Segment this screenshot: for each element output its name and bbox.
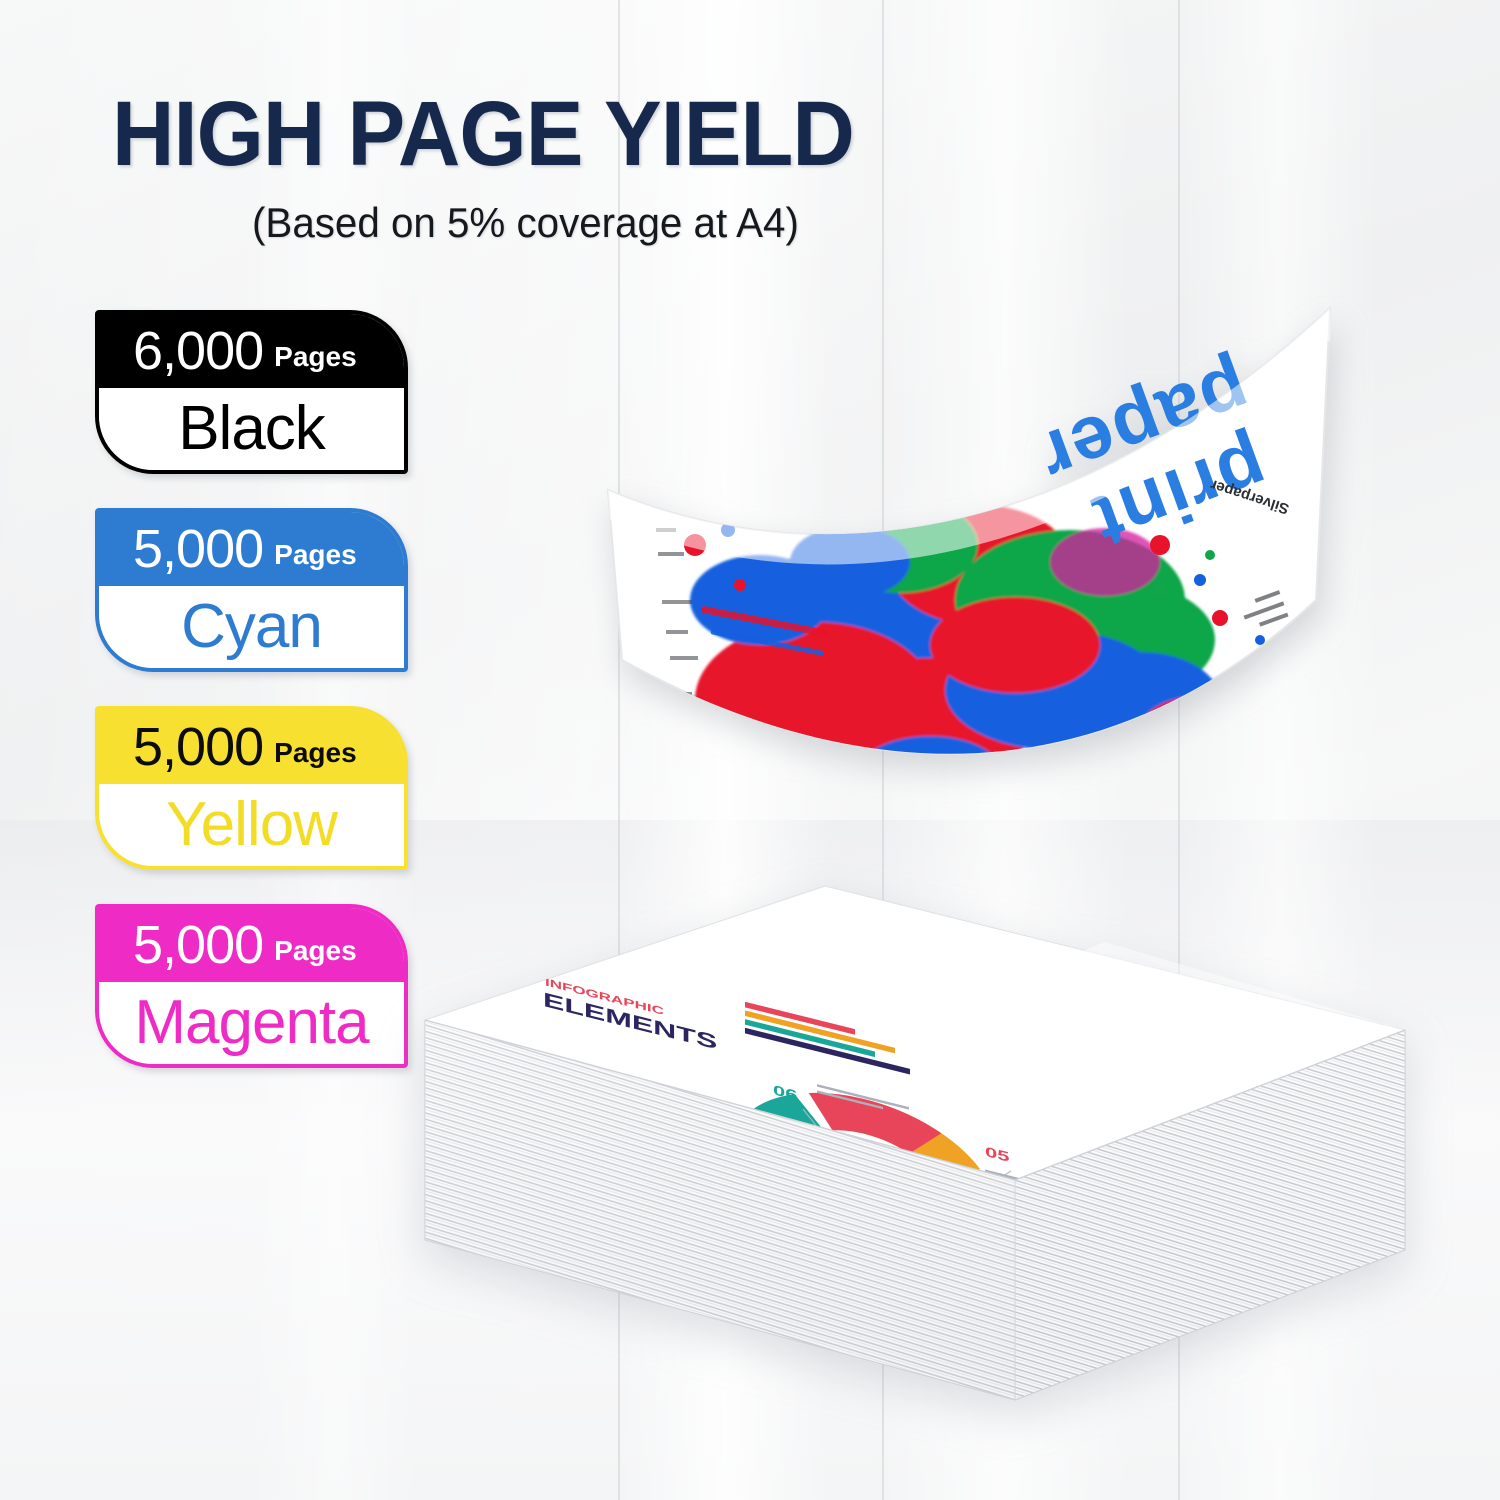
yield-badge-black-name-row: Black xyxy=(99,388,404,470)
page-subtitle: (Based on 5% coverage at A4) xyxy=(252,202,799,244)
infographic-bar-group: 10% 30% 50% xyxy=(1215,1338,1475,1480)
yield-badge-magenta-unit: Pages xyxy=(274,937,357,965)
yield-badge-magenta-name-row: Magenta xyxy=(99,982,404,1064)
yield-badge-yellow-name: Yellow xyxy=(166,794,337,856)
yield-badge-cyan-unit: Pages xyxy=(274,541,357,569)
yield-badge-black-count: 6,000 xyxy=(133,324,263,378)
yield-badge-black[interactable]: 6,000 Pages Black xyxy=(95,310,408,474)
yield-badge-yellow-name-row: Yellow xyxy=(99,784,404,866)
yield-badge-yellow-unit: Pages xyxy=(274,739,357,767)
paper-stack: INFOGRAPHIC ELEMENTS xyxy=(405,880,1475,1480)
yield-badge-yellow-count: 5,000 xyxy=(133,720,263,774)
yield-badge-magenta-count: 5,000 xyxy=(133,918,263,972)
floating-splash-sheet: print paper Silverpaper xyxy=(600,300,1340,820)
yield-badge-list: 6,000 Pages Black 5,000 Pages Cyan 5,000… xyxy=(95,310,425,1102)
yield-badge-yellow[interactable]: 5,000 Pages Yellow xyxy=(95,706,408,870)
yield-badge-magenta-name: Magenta xyxy=(134,992,368,1054)
infographic-gauge-27-label: 27% xyxy=(1413,1218,1461,1246)
yield-badge-cyan-name-row: Cyan xyxy=(99,586,404,668)
yield-badge-cyan-count-row: 5,000 Pages xyxy=(99,512,404,586)
svg-text:40%: 40% xyxy=(823,1365,851,1382)
yield-badge-cyan-count: 5,000 xyxy=(133,522,263,576)
svg-text:42%: 42% xyxy=(1089,1394,1117,1411)
yield-badge-cyan[interactable]: 5,000 Pages Cyan xyxy=(95,508,408,672)
yield-badge-black-unit: Pages xyxy=(274,343,357,371)
yield-badge-magenta[interactable]: 5,000 Pages Magenta xyxy=(95,904,408,1068)
page-title: HIGH PAGE YIELD xyxy=(112,88,854,180)
yield-badge-black-name: Black xyxy=(178,398,325,460)
promo-image-canvas: HIGH PAGE YIELD (Based on 5% coverage at… xyxy=(0,0,1500,1500)
yield-badge-yellow-count-row: 5,000 Pages xyxy=(99,710,404,784)
yield-badge-magenta-count-row: 5,000 Pages xyxy=(99,908,404,982)
yield-badge-black-count-row: 6,000 Pages xyxy=(99,314,404,388)
yield-badge-cyan-name: Cyan xyxy=(181,596,322,658)
